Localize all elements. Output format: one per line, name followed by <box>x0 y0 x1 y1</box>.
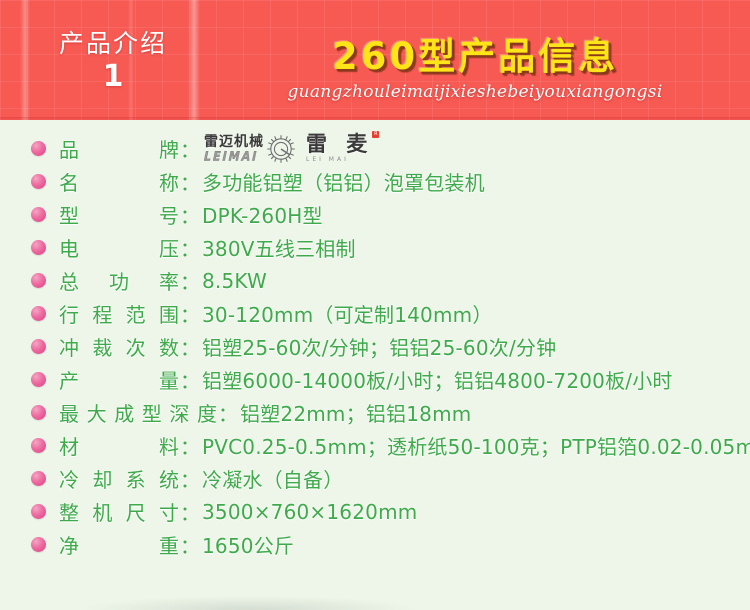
logo-left-text: 雷迈机械LEIMAI <box>204 135 264 162</box>
spec-label: 电 压 <box>59 233 179 262</box>
section-number: 1 <box>38 62 188 92</box>
bullet-icon <box>31 273 46 288</box>
spec-label: 材 料 <box>59 431 179 460</box>
spec-value: 30-120mm（可定制140mm） <box>202 299 750 328</box>
banner-bottom-edge <box>0 117 750 120</box>
spec-label: 最大成型深度 <box>59 398 217 427</box>
gear-icon <box>266 134 296 164</box>
spec-row: 最大成型深度：铝塑22mm；铝铝18mm <box>0 396 750 429</box>
spec-value: 铝塑22mm；铝铝18mm <box>240 398 750 427</box>
spec-row: 总 功 率：8.5KW <box>0 264 750 297</box>
logo-cn-name: 雷迈机械 <box>204 135 264 149</box>
registered-trademark-icon: R <box>372 131 379 138</box>
spec-colon: ： <box>179 266 202 295</box>
spec-colon: ： <box>179 233 202 262</box>
bullet-icon <box>31 240 46 255</box>
bullet-icon <box>31 405 46 420</box>
bullet-icon <box>31 207 46 222</box>
spec-value: PVC0.25-0.5mm；透析纸50-100克；PTP铝箔0.02-0.05m… <box>202 431 750 460</box>
banner-title: 260型产品信息 <box>215 26 735 80</box>
spec-row: 冲裁次数：铝塑25-60次/分钟；铝铝25-60次/分钟 <box>0 330 750 363</box>
spec-value: 铝塑6000-14000板/小时；铝铝4800-7200板/小时 <box>202 365 750 394</box>
bottom-shadow <box>85 596 415 610</box>
logo-brand-block: 雷 麦LEI MAIR <box>306 134 373 163</box>
spec-colon: ： <box>179 365 202 394</box>
banner-stripe-mid <box>128 0 134 120</box>
spec-value: 380V五线三相制 <box>202 233 750 262</box>
spec-label: 行程范围 <box>59 299 179 328</box>
banner-subtitle: guangzhouleimaijixieshebeiyouxiangongsi <box>215 82 735 102</box>
spec-colon: ： <box>179 530 202 559</box>
spec-row: 冷却系统：冷凝水（自备） <box>0 462 750 495</box>
bullet-icon <box>31 174 46 189</box>
logo-brand-name: 雷 麦 <box>306 134 373 155</box>
spec-colon: ： <box>179 299 202 328</box>
bullet-icon <box>31 372 46 387</box>
spec-colon: ： <box>179 332 202 361</box>
bullet-icon <box>31 339 46 354</box>
spec-colon: ： <box>179 497 202 526</box>
spec-value: 铝塑25-60次/分钟；铝铝25-60次/分钟 <box>202 332 750 361</box>
bullet-icon <box>31 306 46 321</box>
logo-brand-pinyin: LEI MAI <box>306 157 373 163</box>
spec-label: 型 号 <box>59 200 179 229</box>
page-header-banner: 产品介绍 1 260型产品信息 guangzhouleimaijixiesheb… <box>0 0 750 120</box>
spec-colon: ： <box>179 464 202 493</box>
spec-label: 整机尺寸 <box>59 497 179 526</box>
bullet-icon <box>31 438 46 453</box>
spec-value: 冷凝水（自备） <box>202 464 750 493</box>
section-label: 产品介绍 <box>38 24 188 60</box>
spec-label: 总 功 率 <box>59 266 179 295</box>
spec-row: 型 号：DPK-260H型 <box>0 198 750 231</box>
spec-label: 净 重 <box>59 530 179 559</box>
banner-stripe-left <box>20 0 30 120</box>
spec-label: 名 称 <box>59 167 179 196</box>
bullet-icon <box>31 537 46 552</box>
spec-label: 冷却系统 <box>59 464 179 493</box>
spec-row: 净 重：1650公斤 <box>0 528 750 561</box>
spec-label: 冲裁次数 <box>59 332 179 361</box>
spec-value: 多功能铝塑（铝铝）泡罩包装机 <box>202 167 750 196</box>
spec-label: 品 牌 <box>59 134 179 163</box>
spec-colon: ： <box>217 398 240 427</box>
banner-divider-stripe <box>188 0 200 120</box>
spec-value: 1650公斤 <box>202 530 750 559</box>
logo-en-name: LEIMAI <box>203 150 266 163</box>
spec-colon: ： <box>179 431 202 460</box>
spec-colon: ： <box>179 167 202 196</box>
spec-value: 3500×760×1620mm <box>202 500 750 524</box>
spec-colon: ： <box>179 134 202 163</box>
spec-row: 品 牌：雷迈机械LEIMAI雷 麦LEI MAIR <box>0 132 750 165</box>
spec-row: 整机尺寸：3500×760×1620mm <box>0 495 750 528</box>
spec-row: 行程范围：30-120mm（可定制140mm） <box>0 297 750 330</box>
bullet-icon <box>31 471 46 486</box>
spec-colon: ： <box>179 200 202 229</box>
brand-logo: 雷迈机械LEIMAI雷 麦LEI MAIR <box>204 133 373 165</box>
spec-value: DPK-260H型 <box>202 200 750 229</box>
spec-row: 材 料：PVC0.25-0.5mm；透析纸50-100克；PTP铝箔0.02-0… <box>0 429 750 462</box>
product-spec-list: 品 牌：雷迈机械LEIMAI雷 麦LEI MAIR名 称：多功能铝塑（铝铝）泡罩… <box>0 132 750 561</box>
spec-row: 产 量：铝塑6000-14000板/小时；铝铝4800-7200板/小时 <box>0 363 750 396</box>
spec-label: 产 量 <box>59 365 179 394</box>
spec-row: 名 称：多功能铝塑（铝铝）泡罩包装机 <box>0 165 750 198</box>
bullet-icon <box>31 141 46 156</box>
bullet-icon <box>31 504 46 519</box>
spec-row: 电 压：380V五线三相制 <box>0 231 750 264</box>
spec-value: 8.5KW <box>202 269 750 293</box>
